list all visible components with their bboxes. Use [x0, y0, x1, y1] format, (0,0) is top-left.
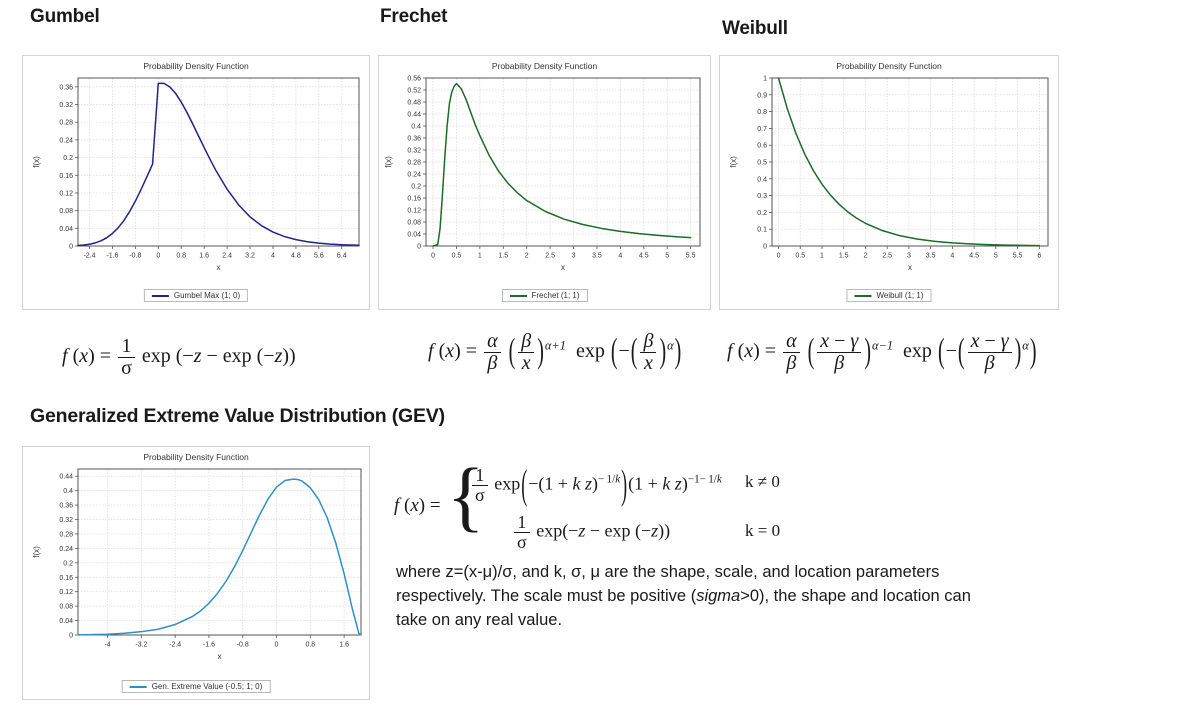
svg-text:0.08: 0.08: [59, 208, 73, 215]
svg-text:0.52: 0.52: [407, 88, 421, 95]
legend-swatch-gumbel: [152, 295, 169, 297]
svg-text:0.32: 0.32: [59, 517, 73, 524]
svg-text:1.6: 1.6: [199, 253, 209, 260]
svg-text:0.2: 0.2: [757, 210, 767, 217]
legend-gev: Gen. Extreme Value (-0.5; 1; 0): [122, 680, 271, 693]
svg-text:4: 4: [950, 253, 954, 260]
svg-text:0.44: 0.44: [407, 112, 421, 119]
svg-text:2.5: 2.5: [545, 253, 555, 260]
svg-text:0.5: 0.5: [452, 253, 462, 260]
formula-gev-lhs: f (x) =: [394, 495, 441, 517]
description-sigma-emphasis: sigma: [696, 587, 740, 605]
svg-text:2.5: 2.5: [882, 253, 892, 260]
svg-text:3.5: 3.5: [926, 253, 936, 260]
svg-text:-0.8: -0.8: [129, 253, 141, 260]
chart-panel-gumbel: Probability Density Function -2.4-1.6-0.…: [22, 55, 370, 310]
svg-text:0.8: 0.8: [176, 253, 186, 260]
description-line-1: where z=(x-μ)/σ, and k, σ, μ are the sha…: [396, 563, 939, 581]
svg-text:f(x): f(x): [32, 546, 41, 558]
svg-text:0.16: 0.16: [407, 196, 421, 203]
svg-text:-4: -4: [104, 642, 110, 649]
svg-text:1.6: 1.6: [339, 642, 349, 649]
svg-text:0.08: 0.08: [59, 604, 73, 611]
svg-text:5: 5: [994, 253, 998, 260]
svg-text:0.56: 0.56: [407, 76, 421, 83]
svg-text:0.2: 0.2: [411, 184, 421, 191]
svg-text:0.5: 0.5: [795, 253, 805, 260]
svg-text:x: x: [218, 652, 222, 661]
svg-text:0.4: 0.4: [757, 176, 767, 183]
svg-text:0.44: 0.44: [59, 474, 73, 481]
svg-text:5: 5: [665, 253, 669, 260]
legend-swatch-weibull: [855, 295, 872, 297]
svg-text:0: 0: [777, 253, 781, 260]
svg-text:-0.8: -0.8: [237, 642, 249, 649]
svg-text:0.8: 0.8: [305, 642, 315, 649]
svg-text:0.08: 0.08: [407, 220, 421, 227]
svg-text:0: 0: [275, 642, 279, 649]
svg-text:-2.4: -2.4: [83, 253, 95, 260]
svg-text:3: 3: [572, 253, 576, 260]
svg-text:f(x): f(x): [32, 156, 41, 168]
svg-text:0.32: 0.32: [407, 148, 421, 155]
svg-text:0.24: 0.24: [407, 172, 421, 179]
svg-text:-1.6: -1.6: [203, 642, 215, 649]
svg-text:-1.6: -1.6: [106, 253, 118, 260]
svg-text:0.12: 0.12: [407, 208, 421, 215]
heading-frechet: Frechet: [380, 6, 447, 28]
svg-text:3: 3: [907, 253, 911, 260]
svg-text:f(x): f(x): [384, 156, 393, 168]
description-line-2b: >0), the shape and location can: [740, 587, 971, 605]
svg-text:0.12: 0.12: [59, 589, 73, 596]
plot-weibull: 00.511.522.533.544.555.5600.10.20.30.40.…: [720, 56, 1060, 311]
svg-text:-3.2: -3.2: [135, 642, 147, 649]
svg-text:0.24: 0.24: [59, 137, 73, 144]
plot-gev: -4-3.2-2.4-1.6-0.800.81.600.040.080.120.…: [23, 447, 371, 701]
svg-text:0: 0: [417, 244, 421, 251]
svg-text:0.28: 0.28: [59, 120, 73, 127]
svg-text:x: x: [561, 263, 565, 272]
svg-text:0.4: 0.4: [411, 124, 421, 131]
description-line-2a: respectively. The scale must be positive…: [396, 587, 696, 605]
svg-text:0.36: 0.36: [59, 503, 73, 510]
svg-text:0.7: 0.7: [757, 126, 767, 133]
svg-text:1: 1: [478, 253, 482, 260]
svg-text:0.16: 0.16: [59, 575, 73, 582]
svg-text:x: x: [217, 263, 221, 272]
svg-text:1.5: 1.5: [498, 253, 508, 260]
svg-text:0: 0: [763, 244, 767, 251]
svg-text:0.16: 0.16: [59, 173, 73, 180]
legend-frechet: Frechet (1; 1): [501, 289, 587, 302]
plot-frechet: 00.511.522.533.544.555.500.040.080.120.1…: [379, 56, 712, 311]
svg-text:0: 0: [156, 253, 160, 260]
svg-text:0.28: 0.28: [59, 531, 73, 538]
svg-text:0: 0: [69, 633, 73, 640]
svg-text:5.5: 5.5: [1013, 253, 1023, 260]
plot-gumbel: -2.4-1.6-0.800.81.62.43.244.85.66.400.04…: [23, 56, 371, 311]
svg-text:0.36: 0.36: [407, 136, 421, 143]
svg-text:0.48: 0.48: [407, 100, 421, 107]
svg-text:0.2: 0.2: [63, 560, 73, 567]
svg-text:f(x): f(x): [729, 156, 738, 168]
svg-text:0.3: 0.3: [757, 193, 767, 200]
legend-weibull: Weibull (1; 1): [847, 289, 932, 302]
legend-gumbel: Gumbel Max (1; 0): [144, 289, 248, 302]
svg-text:2.4: 2.4: [222, 253, 232, 260]
formula-gev-case2-condition: k = 0: [745, 521, 780, 541]
svg-text:0.32: 0.32: [59, 102, 73, 109]
formula-gumbel: f (x) = 1σ exp (−z − exp (−z)): [62, 336, 296, 379]
svg-text:0.24: 0.24: [59, 546, 73, 553]
svg-text:4.5: 4.5: [639, 253, 649, 260]
svg-text:5.6: 5.6: [314, 253, 324, 260]
svg-text:5.5: 5.5: [686, 253, 696, 260]
svg-text:4.8: 4.8: [291, 253, 301, 260]
gev-description: where z=(x-μ)/σ, and k, σ, μ are the sha…: [396, 561, 1176, 633]
svg-text:0.4: 0.4: [63, 488, 73, 495]
svg-text:0.04: 0.04: [59, 618, 73, 625]
svg-text:4.5: 4.5: [969, 253, 979, 260]
svg-text:4: 4: [618, 253, 622, 260]
svg-text:0.28: 0.28: [407, 160, 421, 167]
svg-text:0.12: 0.12: [59, 190, 73, 197]
description-line-3: take on any real value.: [396, 611, 562, 629]
chart-panel-weibull: Probability Density Function 00.511.522.…: [719, 55, 1059, 310]
svg-text:0.1: 0.1: [757, 227, 767, 234]
svg-text:2: 2: [525, 253, 529, 260]
svg-text:0.8: 0.8: [757, 109, 767, 116]
legend-label-frechet: Frechet (1; 1): [531, 291, 579, 300]
formula-weibull: f (x) = αβ (x − γβ)α−1 exp (−(x − γβ)α): [727, 331, 1037, 374]
legend-label-weibull: Weibull (1; 1): [877, 291, 924, 300]
formula-gev-case1-condition: k ≠ 0: [745, 472, 780, 492]
svg-text:3.5: 3.5: [592, 253, 602, 260]
formula-gev-case1: 1σ exp(−(1 + k z)− 1/k)(1 + k z)−1− 1/k: [470, 466, 722, 505]
svg-text:0.6: 0.6: [757, 143, 767, 150]
svg-text:2: 2: [863, 253, 867, 260]
svg-text:0.04: 0.04: [407, 232, 421, 239]
formula-frechet: f (x) = αβ (βx)α+1 exp (−(βx)α): [428, 331, 682, 374]
svg-text:0.36: 0.36: [59, 84, 73, 91]
svg-text:3.2: 3.2: [245, 253, 255, 260]
svg-text:0: 0: [431, 253, 435, 260]
chart-panel-frechet: Probability Density Function 00.511.522.…: [378, 55, 711, 310]
svg-text:-2.4: -2.4: [169, 642, 181, 649]
formula-gev-case2: 1σ exp(−z − exp (−z)): [512, 513, 670, 552]
svg-text:1: 1: [763, 76, 767, 83]
legend-label-gev: Gen. Extreme Value (-0.5; 1; 0): [152, 682, 263, 691]
legend-swatch-gev: [130, 686, 147, 688]
svg-text:6: 6: [1037, 253, 1041, 260]
legend-label-gumbel: Gumbel Max (1; 0): [174, 291, 240, 300]
svg-text:x: x: [908, 263, 912, 272]
heading-gumbel: Gumbel: [30, 6, 100, 28]
svg-text:0: 0: [69, 244, 73, 251]
svg-text:0.5: 0.5: [757, 160, 767, 167]
svg-text:0.04: 0.04: [59, 226, 73, 233]
svg-text:0.9: 0.9: [757, 92, 767, 99]
svg-text:1.5: 1.5: [839, 253, 849, 260]
legend-swatch-frechet: [509, 295, 526, 297]
svg-text:6.4: 6.4: [337, 253, 347, 260]
svg-text:1: 1: [820, 253, 824, 260]
heading-gev: Generalized Extreme Value Distribution (…: [30, 405, 445, 428]
heading-weibull: Weibull: [722, 18, 788, 40]
svg-text:0.2: 0.2: [63, 155, 73, 162]
chart-panel-gev: Probability Density Function -4-3.2-2.4-…: [22, 446, 370, 700]
svg-text:4: 4: [271, 253, 275, 260]
